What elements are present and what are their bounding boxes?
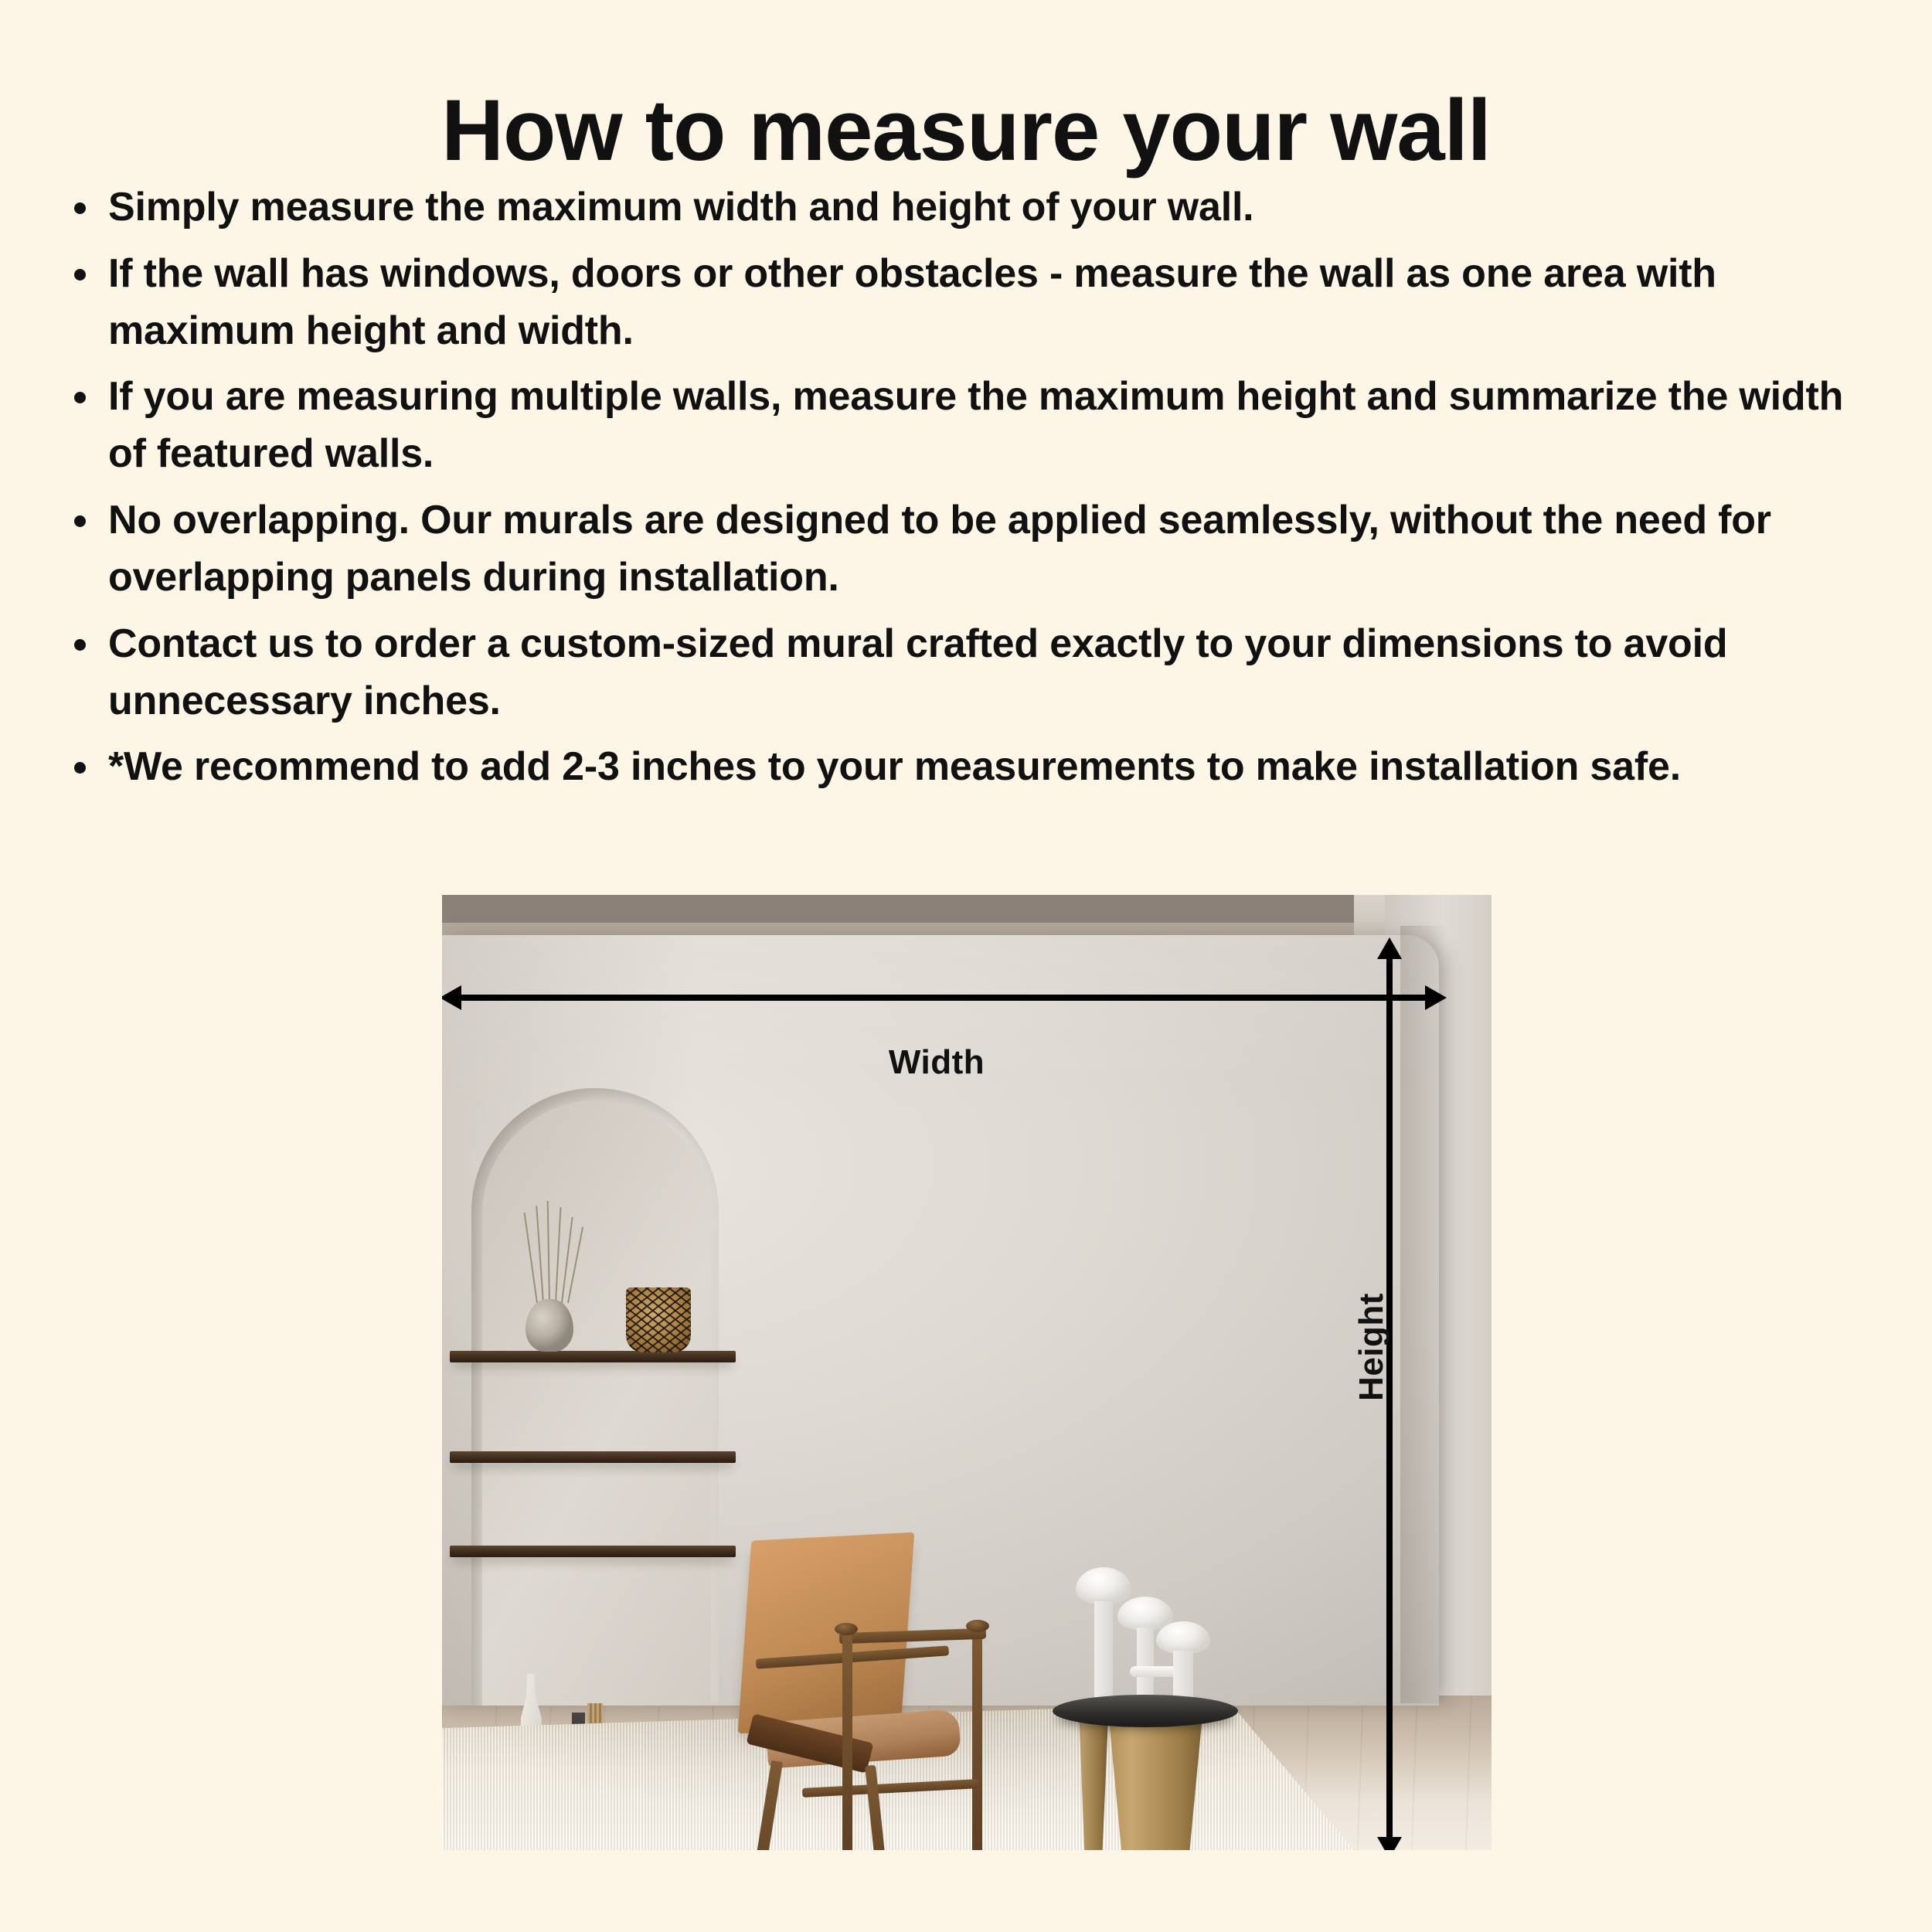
table-leg-wide (1100, 1715, 1202, 1850)
width-arrow-icon (460, 995, 1427, 1001)
list-item: If you are measuring multiple walls, mea… (60, 369, 1861, 483)
chair-leg-back (972, 1628, 982, 1850)
vase-tall-stem (1094, 1601, 1113, 1706)
instruction-text: If the wall has windows, doors or other … (108, 251, 1716, 353)
chair-leg-front (842, 1635, 852, 1850)
instruction-text: No overlapping. Our murals are designed … (108, 498, 1771, 600)
shelf-top (450, 1351, 736, 1362)
shelf-middle (450, 1451, 736, 1463)
page-title: How to measure your wall (0, 80, 1932, 182)
chair-leg-curved-right (865, 1765, 889, 1850)
side-table (1053, 1695, 1238, 1850)
list-item: Contact us to order a custom-sized mural… (60, 616, 1861, 730)
chair-leg-curved-left (750, 1760, 783, 1850)
height-label: Height (1352, 1293, 1391, 1401)
width-label: Width (442, 1043, 1431, 1082)
table-top (1053, 1695, 1238, 1727)
instruction-text: *We recommend to add 2-3 inches to your … (108, 744, 1681, 789)
stone-vase (526, 1299, 573, 1352)
dried-reeds (533, 1202, 577, 1303)
chair-rail-low (802, 1779, 978, 1798)
instruction-text: Contact us to order a custom-sized mural… (108, 621, 1727, 723)
leather-lounge-chair (674, 1536, 998, 1850)
sculptural-vases (1070, 1567, 1224, 1706)
chair-knob-front (835, 1623, 858, 1635)
list-item: Simply measure the maximum width and hei… (60, 179, 1861, 236)
chair-knob-back (966, 1620, 989, 1632)
room-photo: Width Height (442, 895, 1492, 1850)
list-item: No overlapping. Our murals are designed … (60, 492, 1861, 607)
instruction-text: Simply measure the maximum width and hei… (108, 185, 1253, 230)
woven-basket (626, 1287, 691, 1352)
instruction-text: If you are measuring multiple walls, mea… (108, 374, 1843, 476)
room-scene: Width Height (442, 895, 1492, 1850)
list-item: *We recommend to add 2-3 inches to your … (60, 739, 1861, 796)
vase-short-cup (1156, 1621, 1210, 1654)
vase-short (1156, 1621, 1210, 1706)
table-leg-thin (1071, 1718, 1108, 1850)
instruction-list: Simply measure the maximum width and hei… (60, 179, 1861, 805)
list-item: If the wall has windows, doors or other … (60, 246, 1861, 360)
wall-edge-shadow (1400, 926, 1447, 1703)
